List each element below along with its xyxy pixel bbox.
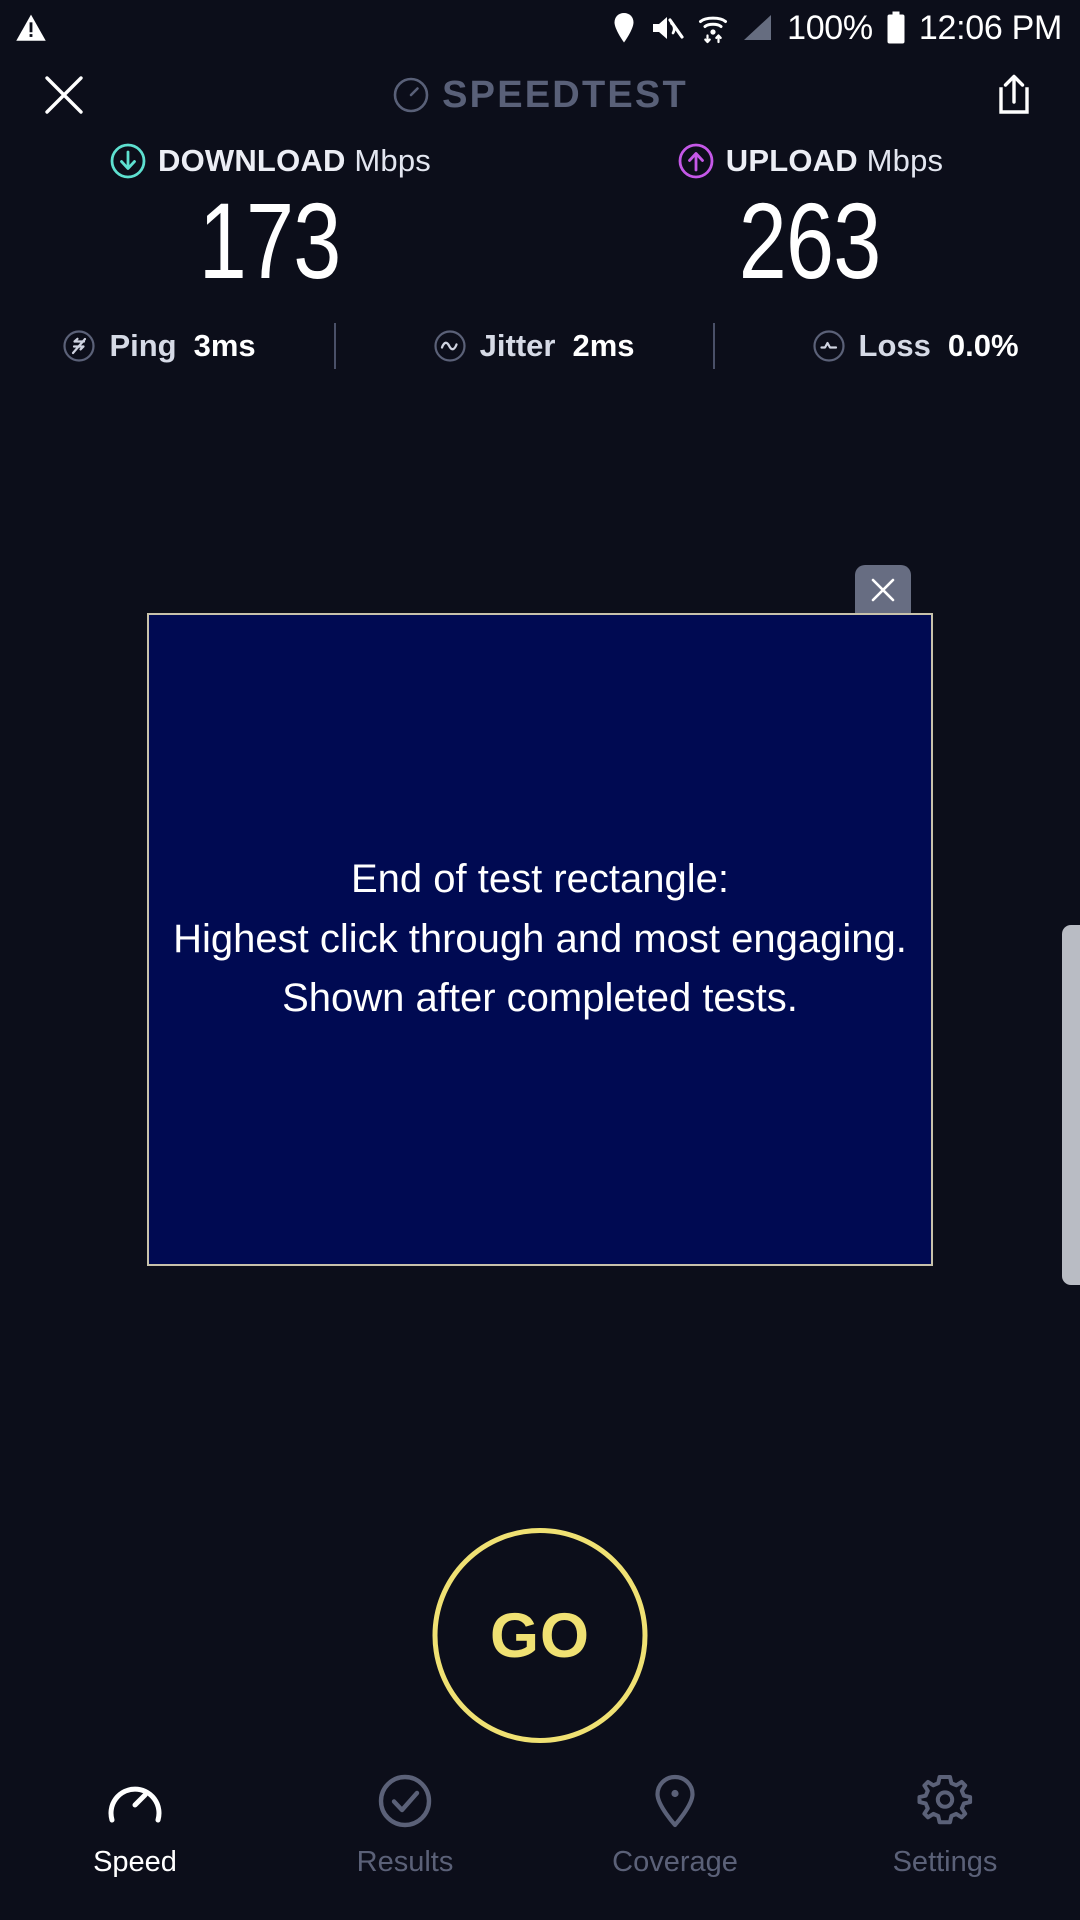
divider-2 (713, 323, 715, 369)
divider-1 (334, 323, 336, 369)
check-circle-icon (374, 1772, 436, 1830)
speedometer-icon (104, 1772, 166, 1830)
upload-unit-label: Mbps (867, 143, 944, 178)
page-title: SPEEDTEST (0, 74, 1080, 117)
download-metric: DOWNLOAD Mbps 173 (0, 140, 540, 297)
close-icon (868, 575, 898, 605)
location-pin-icon (611, 12, 637, 44)
nav-item-settings[interactable]: Settings (810, 1752, 1080, 1920)
loss-icon (811, 328, 847, 364)
nav-item-speed[interactable]: Speed (0, 1752, 270, 1920)
download-upload-row: DOWNLOAD Mbps 173 UPLOAD Mbps (0, 140, 1080, 297)
jitter-value: 2ms (572, 328, 634, 364)
upload-arrow-icon (677, 142, 715, 180)
bottom-navigation-bar: Speed Results Coverage Settings (0, 1752, 1080, 1920)
ping-label: Ping (109, 328, 176, 364)
ping-value: 3ms (194, 328, 256, 364)
loss-label: Loss (859, 328, 931, 364)
ping-icon (61, 328, 97, 364)
ad-line-2: Highest click through and most engaging. (173, 910, 907, 970)
upload-header: UPLOAD Mbps (677, 140, 944, 182)
upload-label-text: UPLOAD (726, 143, 858, 178)
ad-close-button[interactable] (855, 565, 911, 615)
share-button[interactable] (986, 67, 1042, 123)
battery-percent-label: 100% (787, 11, 873, 45)
ping-jitter-loss-row: Ping 3ms Jitter 2ms (0, 323, 1080, 369)
nav-item-coverage[interactable]: Coverage (540, 1752, 810, 1920)
nav-item-results[interactable]: Results (270, 1752, 540, 1920)
ping-metric: Ping 3ms (55, 328, 261, 364)
gear-icon (914, 1772, 976, 1830)
download-arrow-icon (109, 142, 147, 180)
jitter-icon (432, 328, 468, 364)
status-bar-left (14, 11, 48, 45)
ad-text-block: End of test rectangle: Highest click thr… (173, 850, 907, 1029)
nav-label-coverage: Coverage (612, 1846, 738, 1879)
app-header: SPEEDTEST (0, 56, 1080, 134)
mute-icon (650, 13, 684, 43)
advertisement-banner[interactable]: End of test rectangle: Highest click thr… (147, 613, 933, 1266)
warning-triangle-icon (14, 11, 48, 45)
status-bar: 100% 12:06 PM (0, 0, 1080, 56)
loss-metric: Loss 0.0% (805, 328, 1025, 364)
go-button[interactable]: GO (433, 1528, 648, 1743)
download-label: DOWNLOAD Mbps (158, 143, 431, 179)
download-header: DOWNLOAD Mbps (109, 140, 431, 182)
loss-value: 0.0% (948, 328, 1019, 364)
status-bar-right: 100% 12:06 PM (611, 11, 1062, 45)
download-value: 173 (199, 184, 341, 297)
upload-metric: UPLOAD Mbps 263 (540, 140, 1080, 297)
download-unit-label: Mbps (354, 143, 431, 178)
nav-label-results: Results (357, 1846, 454, 1879)
jitter-label: Jitter (480, 328, 556, 364)
go-button-label: GO (490, 1600, 590, 1672)
brand-title-label: SPEEDTEST (442, 74, 688, 117)
jitter-metric: Jitter 2ms (426, 328, 641, 364)
speedtest-app-screen: 100% 12:06 PM SPEEDTEST (0, 0, 1080, 1920)
download-label-text: DOWNLOAD (158, 143, 346, 178)
speedometer-icon (392, 76, 430, 114)
nav-label-speed: Speed (93, 1846, 177, 1879)
cellular-signal-icon (742, 13, 774, 43)
map-pin-icon (644, 1772, 706, 1830)
ad-line-1: End of test rectangle: (173, 850, 907, 910)
nav-label-settings: Settings (893, 1846, 998, 1879)
page-scrollbar[interactable] (1062, 925, 1080, 1285)
upload-label: UPLOAD Mbps (726, 143, 944, 179)
ad-line-3: Shown after completed tests. (173, 969, 907, 1029)
advertisement-container: End of test rectangle: Highest click thr… (147, 613, 933, 1266)
battery-full-icon (886, 11, 906, 45)
clock-label: 12:06 PM (919, 11, 1062, 45)
upload-value: 263 (739, 184, 881, 297)
results-summary: DOWNLOAD Mbps 173 UPLOAD Mbps (0, 140, 1080, 369)
wifi-icon (697, 11, 729, 45)
share-icon (993, 72, 1035, 118)
